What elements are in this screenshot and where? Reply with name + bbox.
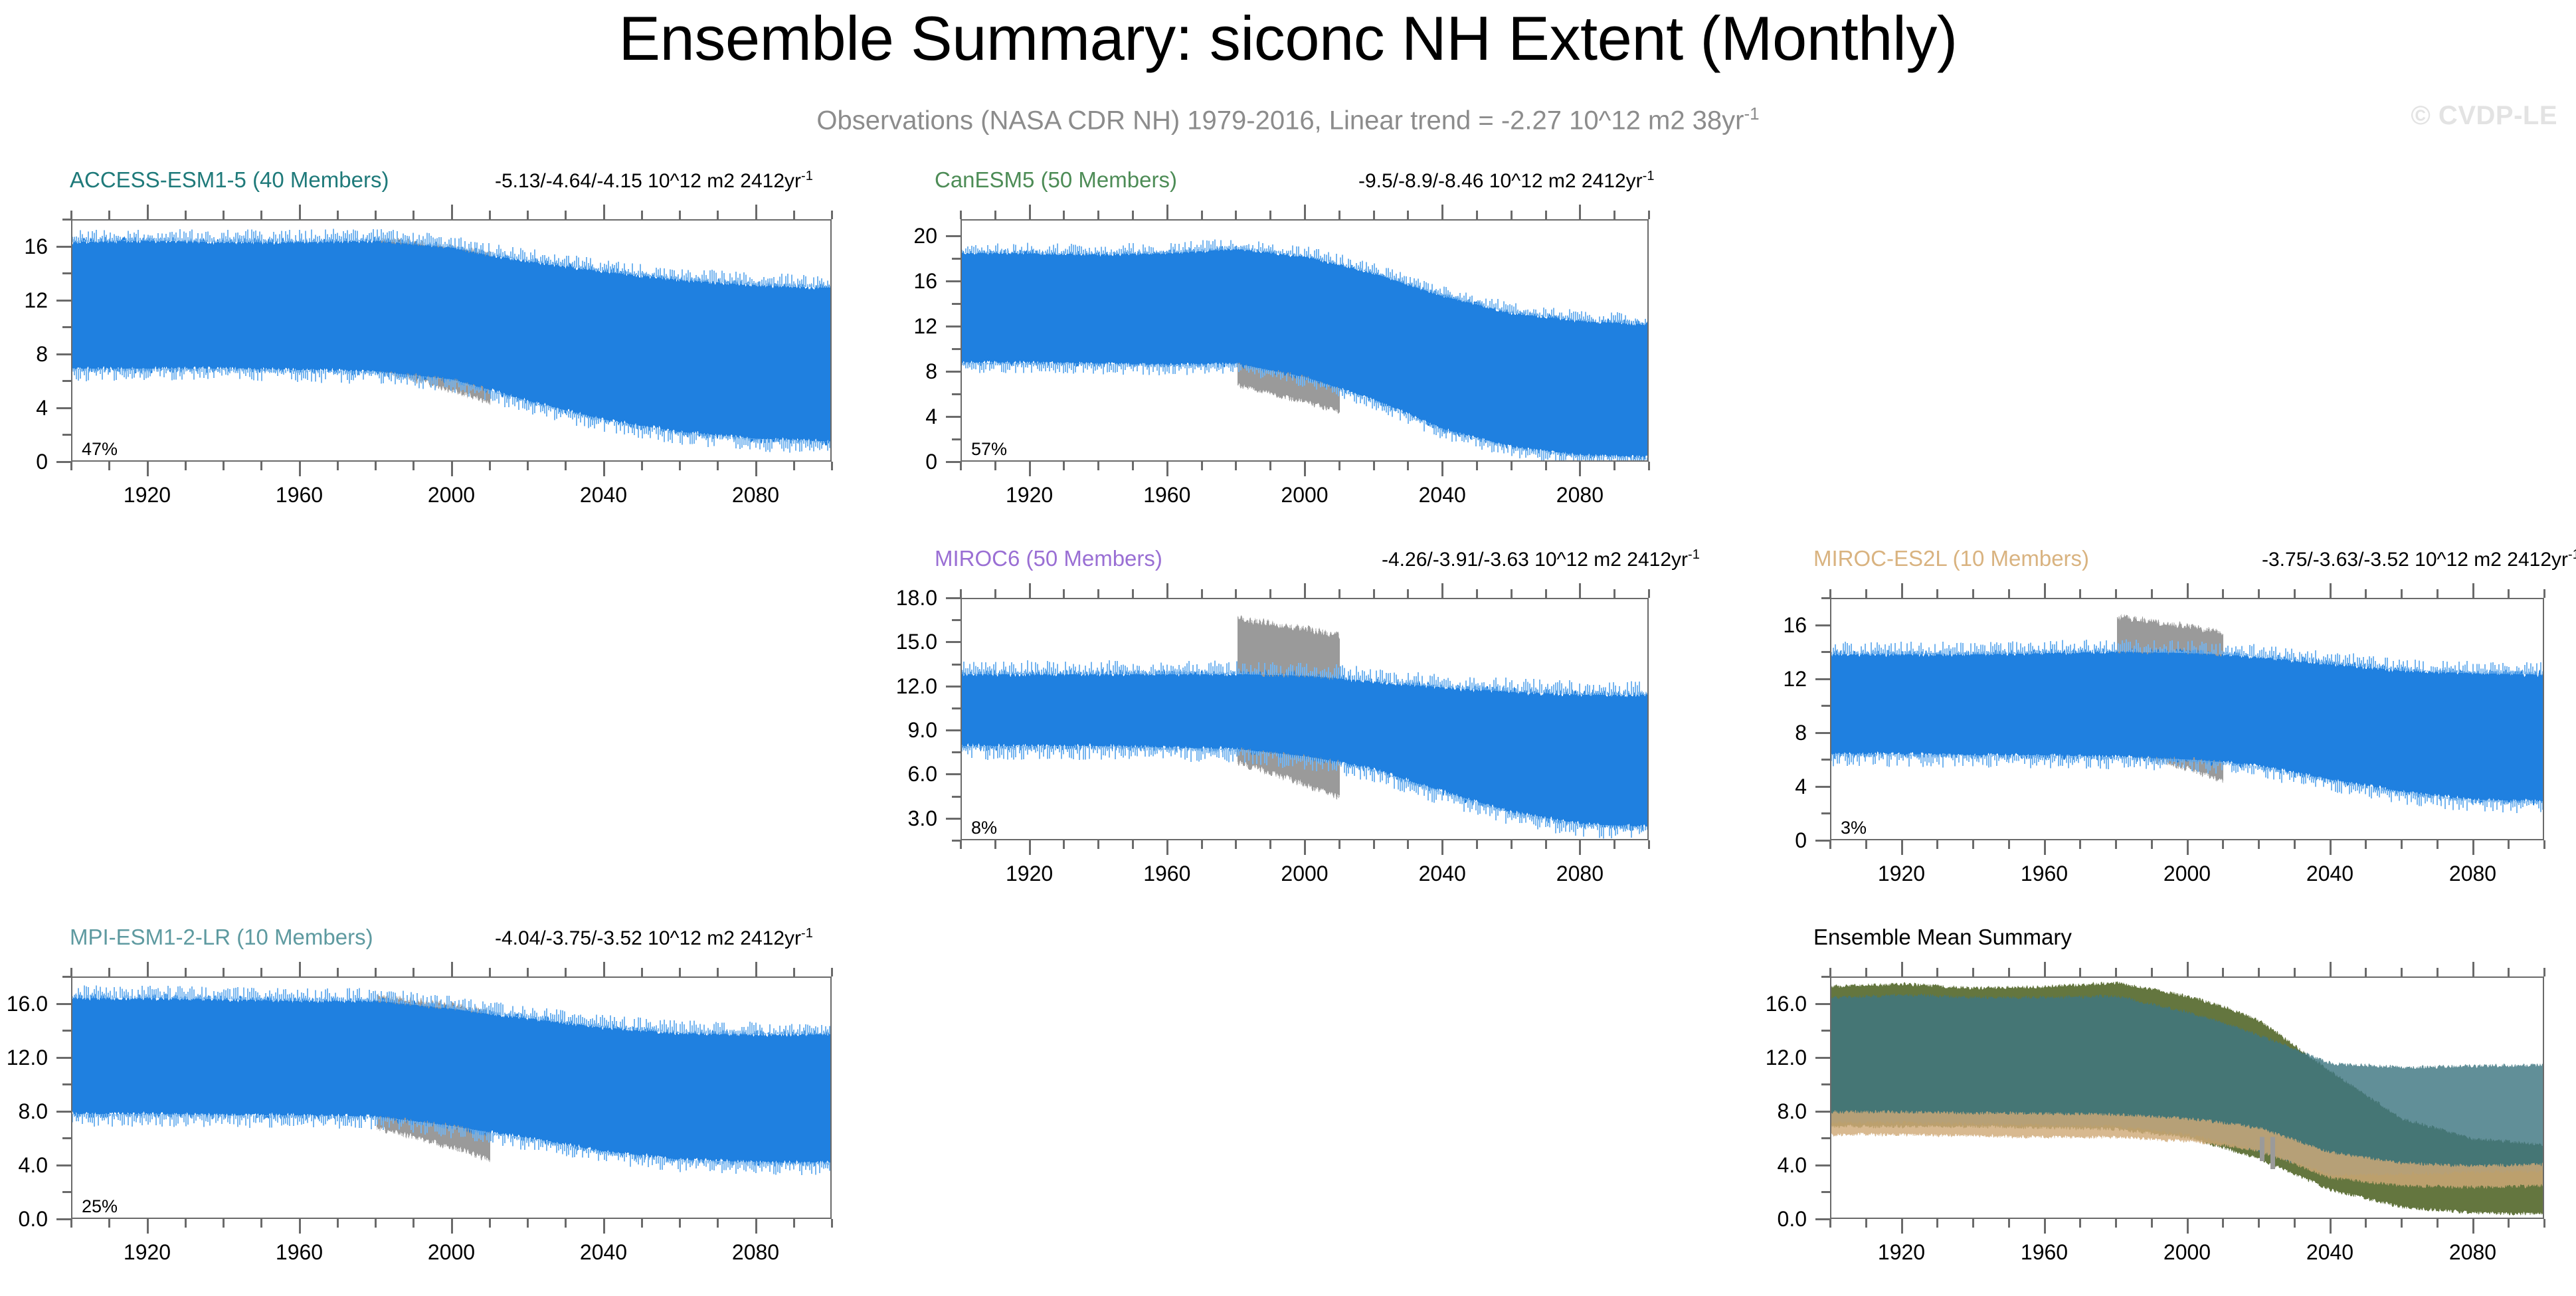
y-tick-major <box>1815 786 1830 788</box>
x-tick-minor <box>1235 840 1237 849</box>
x-tick-minor <box>2401 840 2403 849</box>
x-tick-major-top <box>1441 205 1443 219</box>
panel-trend-miroc6: -4.26/-3.91/-3.63 10^12 m2 2412yr-1 <box>1382 547 1700 571</box>
y-axis-label: 3.0 <box>808 808 937 829</box>
x-tick-minor <box>1097 211 1099 219</box>
x-axis-label: 2000 <box>2163 863 2211 884</box>
y-tick-major <box>1815 1111 1830 1113</box>
y-tick-major <box>56 1057 71 1059</box>
y-tick-major <box>1815 1164 1830 1166</box>
y-tick-major <box>946 729 961 731</box>
x-tick-minor <box>2008 589 2010 598</box>
x-tick-minor <box>994 211 996 219</box>
x-tick-minor <box>679 211 681 219</box>
x-axis-label: 2000 <box>428 484 475 506</box>
plot-area-miroc-es2l: 3% <box>1830 598 2544 840</box>
x-tick-minor <box>1235 462 1237 470</box>
x-tick-major <box>755 1219 757 1234</box>
x-tick-major <box>299 462 301 476</box>
x-tick-minor <box>1407 589 1409 598</box>
y-tick-minor <box>952 348 961 350</box>
x-tick-minor <box>1476 840 1478 849</box>
panel-trend-miroc-es2l: -3.75/-3.63/-3.52 10^12 m2 2412yr-1 <box>2262 547 2576 571</box>
x-tick-minor <box>1972 968 1974 976</box>
x-tick-minor <box>1865 840 1867 849</box>
x-tick-major-top <box>147 205 149 219</box>
x-tick-minor <box>223 211 225 219</box>
y-tick-major <box>56 461 71 463</box>
x-tick-minor <box>2151 840 2153 849</box>
x-tick-minor <box>2115 968 2117 976</box>
x-tick-minor <box>2401 968 2403 976</box>
x-axis-label: 2080 <box>732 484 779 506</box>
x-tick-major <box>1029 840 1031 855</box>
plot-area-ensemble-mean-summary <box>1830 976 2544 1219</box>
y-tick-major <box>946 280 961 282</box>
x-tick-major <box>299 1219 301 1234</box>
x-axis-label: 2000 <box>2163 1242 2211 1263</box>
y-tick-major <box>946 641 961 643</box>
y-axis-label: 12.0 <box>1677 1047 1807 1068</box>
x-tick-major-top <box>1579 205 1581 219</box>
x-tick-minor <box>527 462 529 470</box>
x-tick-minor <box>375 462 377 470</box>
trend-exponent: -1 <box>1688 547 1700 562</box>
x-tick-minor <box>641 1219 643 1228</box>
x-tick-major <box>147 1219 149 1234</box>
subtitle: Observations (NASA CDR NH) 1979-2016, Li… <box>0 98 2576 136</box>
x-axis-label: 1920 <box>1878 863 1925 884</box>
y-axis-label: 16.0 <box>1677 993 1807 1014</box>
x-tick-minor <box>1201 462 1203 470</box>
y-tick-minor <box>1821 759 1830 761</box>
x-tick-minor <box>1063 840 1065 849</box>
x-tick-major-top <box>299 205 301 219</box>
x-tick-major-top <box>1304 583 1306 598</box>
x-tick-minor <box>223 462 225 470</box>
ice-free-percent-miroc6: 8% <box>971 819 997 837</box>
y-tick-major <box>1815 624 1830 626</box>
x-tick-minor <box>1201 589 1203 598</box>
ice-free-percent-miroc-es2l: 3% <box>1841 819 1867 837</box>
x-tick-minor <box>2543 1219 2545 1228</box>
x-tick-minor <box>489 211 491 219</box>
x-tick-minor <box>2222 1219 2224 1228</box>
x-axis-label: 1920 <box>1878 1242 1925 1263</box>
ice-free-percent-access-esm1-5: 47% <box>82 440 118 458</box>
y-axis-label: 4.0 <box>0 1155 48 1176</box>
x-tick-minor <box>1097 840 1099 849</box>
y-axis-label: 8 <box>0 343 48 365</box>
y-tick-major <box>946 818 961 820</box>
x-tick-minor <box>1097 462 1099 470</box>
x-tick-minor <box>2258 968 2260 976</box>
x-tick-minor <box>223 1219 225 1228</box>
x-tick-minor <box>679 968 681 976</box>
x-tick-minor <box>2151 968 2153 976</box>
x-tick-minor <box>641 462 643 470</box>
y-tick-major <box>1815 1218 1830 1220</box>
x-tick-minor <box>2508 589 2510 598</box>
x-tick-major <box>755 462 757 476</box>
panel-title-ensemble-mean-summary: Ensemble Mean Summary <box>1813 925 2072 950</box>
x-tick-minor <box>1511 462 1513 470</box>
trend-value: -4.04/-3.75/-3.52 10^12 m2 2412yr <box>495 927 801 949</box>
x-axis-label: 1920 <box>1006 484 1053 506</box>
x-tick-minor <box>793 968 795 976</box>
x-tick-minor <box>679 1219 681 1228</box>
y-tick-major <box>946 416 961 418</box>
x-tick-minor <box>2437 1219 2438 1228</box>
x-tick-major <box>1166 462 1168 476</box>
x-tick-minor <box>1648 589 1650 598</box>
x-tick-major <box>1901 1219 1903 1234</box>
x-tick-minor <box>1972 1219 1974 1228</box>
x-tick-minor <box>2079 1219 2081 1228</box>
y-tick-minor <box>952 258 961 260</box>
x-tick-major-top <box>1441 583 1443 598</box>
x-tick-minor <box>1201 211 1203 219</box>
x-axis-label: 1920 <box>1006 863 1053 884</box>
y-axis-label: 0.0 <box>0 1208 48 1230</box>
y-tick-minor <box>1821 1137 1830 1139</box>
x-tick-minor <box>2401 1219 2403 1228</box>
x-tick-major <box>2330 840 2332 855</box>
x-axis-label: 2000 <box>1281 484 1328 506</box>
x-tick-major-top <box>1901 962 1903 976</box>
x-tick-major <box>1901 840 1903 855</box>
y-axis-label: 8 <box>1677 722 1807 743</box>
x-axis-label: 2080 <box>1556 863 1604 884</box>
panel-trend-canesm5: -9.5/-8.9/-8.46 10^12 m2 2412yr-1 <box>1358 169 1654 193</box>
y-tick-major <box>946 235 961 237</box>
x-tick-minor <box>2365 1219 2367 1228</box>
y-tick-major <box>56 1111 71 1113</box>
x-tick-minor <box>1407 462 1409 470</box>
x-tick-minor <box>2008 1219 2010 1228</box>
x-tick-minor <box>70 462 72 470</box>
y-axis-label: 16.0 <box>0 993 48 1014</box>
x-tick-major-top <box>299 962 301 976</box>
x-tick-minor <box>337 462 339 470</box>
x-tick-minor <box>2508 840 2510 849</box>
y-tick-minor <box>952 751 961 753</box>
y-tick-minor <box>62 434 71 436</box>
ice-free-percent-mpi-esm1-2-lr: 25% <box>82 1198 118 1216</box>
x-tick-minor <box>375 1219 377 1228</box>
x-tick-major <box>1579 462 1581 476</box>
y-axis-label: 12.0 <box>0 1047 48 1068</box>
x-tick-minor <box>1936 1219 1938 1228</box>
cvdp-le-watermark: © CVDP-LE <box>2411 101 2557 131</box>
x-tick-minor <box>2508 1219 2510 1228</box>
y-tick-minor <box>62 1083 71 1085</box>
x-tick-minor <box>717 211 719 219</box>
plot-area-canesm5: 57% <box>961 219 1649 462</box>
y-axis-label: 0 <box>1677 830 1807 851</box>
x-axis-label: 2040 <box>1419 863 1466 884</box>
x-tick-minor <box>2543 968 2545 976</box>
x-tick-minor <box>717 1219 719 1228</box>
x-tick-minor <box>565 211 567 219</box>
x-tick-minor <box>1235 211 1237 219</box>
y-axis-label: 16 <box>808 270 937 292</box>
y-tick-minor <box>1821 1083 1830 1085</box>
y-tick-major <box>56 1164 71 1166</box>
x-tick-minor <box>2115 589 2117 598</box>
x-tick-minor <box>527 968 529 976</box>
x-tick-major-top <box>1029 205 1031 219</box>
x-axis-label: 1960 <box>1143 484 1190 506</box>
x-tick-minor <box>1545 589 1547 598</box>
x-tick-minor <box>337 968 339 976</box>
x-tick-minor <box>1476 462 1478 470</box>
x-tick-minor <box>375 968 377 976</box>
x-tick-minor <box>1407 211 1409 219</box>
x-tick-minor <box>413 462 414 470</box>
x-tick-minor <box>108 211 110 219</box>
x-tick-major-top <box>2187 583 2189 598</box>
plot-area-mpi-esm1-2-lr: 25% <box>71 976 832 1219</box>
x-tick-minor <box>1865 968 1867 976</box>
x-axis-label: 2080 <box>2449 1242 2496 1263</box>
x-tick-minor <box>2115 1219 2117 1228</box>
x-tick-major-top <box>2044 962 2046 976</box>
panel-title-miroc6: MIROC6 (50 Members) <box>935 546 1162 571</box>
trend-value: -9.5/-8.9/-8.46 10^12 m2 2412yr <box>1358 170 1643 192</box>
x-tick-major-top <box>147 962 149 976</box>
x-tick-major <box>1304 840 1306 855</box>
x-tick-minor <box>1865 1219 1867 1228</box>
y-tick-major <box>1815 1003 1830 1005</box>
x-tick-minor <box>527 211 529 219</box>
x-tick-minor <box>1648 462 1650 470</box>
x-tick-minor <box>413 1219 414 1228</box>
x-axis-label: 2000 <box>1281 863 1328 884</box>
x-tick-minor <box>2079 840 2081 849</box>
x-tick-minor <box>2222 589 2224 598</box>
x-tick-minor <box>2294 1219 2296 1228</box>
x-tick-minor <box>641 968 643 976</box>
x-tick-minor <box>1373 589 1375 598</box>
x-tick-minor <box>1936 840 1938 849</box>
x-tick-minor <box>1338 589 1340 598</box>
x-tick-major-top <box>1579 583 1581 598</box>
x-tick-minor <box>413 968 414 976</box>
x-tick-major <box>1166 840 1168 855</box>
y-axis-label: 6.0 <box>808 763 937 785</box>
y-tick-minor <box>62 380 71 382</box>
y-tick-major <box>946 371 961 373</box>
x-tick-minor <box>108 968 110 976</box>
ensemble-envelope <box>962 669 1649 832</box>
x-tick-minor <box>1338 840 1340 849</box>
y-tick-minor <box>952 664 961 666</box>
x-tick-minor <box>2508 968 2510 976</box>
x-tick-minor <box>337 1219 339 1228</box>
y-tick-major <box>1815 678 1830 680</box>
x-tick-minor <box>1829 968 1831 976</box>
x-tick-minor <box>793 462 795 470</box>
x-tick-minor <box>2008 968 2010 976</box>
x-tick-minor <box>960 462 962 470</box>
y-tick-major <box>56 353 71 355</box>
x-tick-minor <box>185 462 187 470</box>
x-tick-minor <box>70 211 72 219</box>
x-tick-major-top <box>1166 205 1168 219</box>
x-tick-minor <box>1338 211 1340 219</box>
y-axis-label: 9.0 <box>808 719 937 741</box>
y-tick-major <box>946 773 961 775</box>
x-tick-major-top <box>1901 583 1903 598</box>
y-axis-label: 12.0 <box>808 676 937 697</box>
trend-exponent: -1 <box>1643 169 1655 183</box>
x-tick-minor <box>831 1219 833 1228</box>
x-tick-major <box>1029 462 1031 476</box>
x-tick-minor <box>1063 462 1065 470</box>
x-tick-minor <box>1476 589 1478 598</box>
y-tick-major <box>1815 732 1830 734</box>
y-axis-label: 4 <box>0 397 48 418</box>
x-tick-major <box>603 1219 605 1234</box>
x-tick-major-top <box>603 962 605 976</box>
y-tick-minor <box>62 1137 71 1139</box>
x-axis-label: 1920 <box>124 1242 171 1263</box>
y-tick-major <box>56 1003 71 1005</box>
x-tick-minor <box>2115 840 2117 849</box>
x-tick-minor <box>375 211 377 219</box>
y-axis-label: 16 <box>0 236 48 257</box>
y-axis-label: 12 <box>808 316 937 337</box>
x-tick-minor <box>1972 589 1974 598</box>
x-tick-minor <box>2294 840 2296 849</box>
y-tick-major <box>56 1218 71 1220</box>
x-tick-minor <box>2543 840 2545 849</box>
y-tick-minor <box>952 796 961 798</box>
y-axis-label: 20 <box>808 225 937 246</box>
x-tick-minor <box>1373 840 1375 849</box>
x-tick-major <box>2330 1219 2332 1234</box>
x-tick-major-top <box>2044 583 2046 598</box>
y-tick-minor <box>952 438 961 440</box>
x-tick-minor <box>2365 840 2367 849</box>
x-tick-minor <box>108 1219 110 1228</box>
x-axis-label: 1960 <box>276 1242 323 1263</box>
y-tick-minor <box>952 707 961 709</box>
x-tick-minor <box>717 462 719 470</box>
x-axis-label: 2080 <box>1556 484 1604 506</box>
x-tick-minor <box>1511 589 1513 598</box>
panel-title-miroc-es2l: MIROC-ES2L (10 Members) <box>1813 546 2089 571</box>
x-axis-label: 1960 <box>2021 863 2068 884</box>
panel-title-canesm5: CanESM5 (50 Members) <box>935 167 1177 193</box>
y-axis-label: 8 <box>808 361 937 382</box>
x-tick-major-top <box>2472 962 2474 976</box>
x-tick-minor <box>489 1219 491 1228</box>
x-tick-minor <box>1613 462 1615 470</box>
x-tick-major-top <box>603 205 605 219</box>
x-tick-minor <box>1936 968 1938 976</box>
panel-title-access-esm1-5: ACCESS-ESM1-5 (40 Members) <box>70 167 389 193</box>
panel-title-mpi-esm1-2-lr: MPI-ESM1-2-LR (10 Members) <box>70 925 373 950</box>
x-tick-minor <box>108 462 110 470</box>
y-axis-label: 4.0 <box>1677 1155 1807 1176</box>
x-tick-minor <box>260 211 262 219</box>
x-tick-minor <box>2294 968 2296 976</box>
x-tick-minor <box>960 589 962 598</box>
subtitle-text: Observations (NASA CDR NH) 1979-2016, Li… <box>816 106 1744 135</box>
y-tick-major <box>946 461 961 463</box>
x-tick-minor <box>1097 589 1099 598</box>
x-tick-minor <box>1613 589 1615 598</box>
x-tick-minor <box>1476 211 1478 219</box>
trend-exponent: -1 <box>2568 547 2576 562</box>
x-axis-label: 2040 <box>580 484 627 506</box>
x-tick-minor <box>1865 589 1867 598</box>
y-tick-minor <box>62 1030 71 1032</box>
x-tick-major <box>2187 840 2189 855</box>
trend-value: -3.75/-3.63/-3.52 10^12 m2 2412yr <box>2262 549 2568 571</box>
x-tick-minor <box>831 211 833 219</box>
y-axis-label: 12 <box>1677 668 1807 690</box>
x-tick-minor <box>260 462 262 470</box>
x-tick-minor <box>2222 968 2224 976</box>
x-tick-minor <box>527 1219 529 1228</box>
x-tick-major <box>451 1219 453 1234</box>
x-tick-minor <box>717 968 719 976</box>
x-tick-major-top <box>1304 205 1306 219</box>
x-tick-major <box>2044 1219 2046 1234</box>
y-tick-minor <box>1821 1030 1830 1032</box>
x-tick-major-top <box>2187 962 2189 976</box>
x-tick-minor <box>70 968 72 976</box>
y-tick-major <box>946 686 961 688</box>
x-tick-minor <box>1648 211 1650 219</box>
x-tick-minor <box>1545 840 1547 849</box>
x-tick-minor <box>2079 589 2081 598</box>
trend-value: -5.13/-4.64/-4.15 10^12 m2 2412yr <box>495 170 801 192</box>
subtitle-exponent: -1 <box>1744 104 1760 124</box>
x-axis-label: 1960 <box>276 484 323 506</box>
x-tick-minor <box>793 211 795 219</box>
x-tick-minor <box>1829 1219 1831 1228</box>
x-tick-minor <box>1829 840 1831 849</box>
ensemble-envelope <box>72 236 832 446</box>
x-tick-minor <box>641 211 643 219</box>
trend-value: -4.26/-3.91/-3.63 10^12 m2 2412yr <box>1382 549 1688 571</box>
y-tick-major <box>1815 840 1830 842</box>
x-tick-minor <box>1132 211 1134 219</box>
x-tick-major <box>2472 840 2474 855</box>
x-tick-minor <box>2437 589 2438 598</box>
x-tick-minor <box>1132 589 1134 598</box>
x-axis-label: 2040 <box>2306 1242 2353 1263</box>
x-tick-minor <box>2437 840 2438 849</box>
x-tick-minor <box>1201 840 1203 849</box>
x-axis-label: 2040 <box>1419 484 1466 506</box>
panel-trend-access-esm1-5: -5.13/-4.64/-4.15 10^12 m2 2412yr-1 <box>495 169 813 193</box>
x-tick-minor <box>994 462 996 470</box>
x-tick-major <box>2472 1219 2474 1234</box>
x-tick-major <box>2044 840 2046 855</box>
x-tick-major <box>1304 462 1306 476</box>
y-axis-label: 16 <box>1677 614 1807 636</box>
x-tick-minor <box>1936 589 1938 598</box>
x-tick-minor <box>565 462 567 470</box>
x-tick-minor <box>2401 589 2403 598</box>
x-tick-major-top <box>451 962 453 976</box>
x-axis-label: 1960 <box>2021 1242 2068 1263</box>
